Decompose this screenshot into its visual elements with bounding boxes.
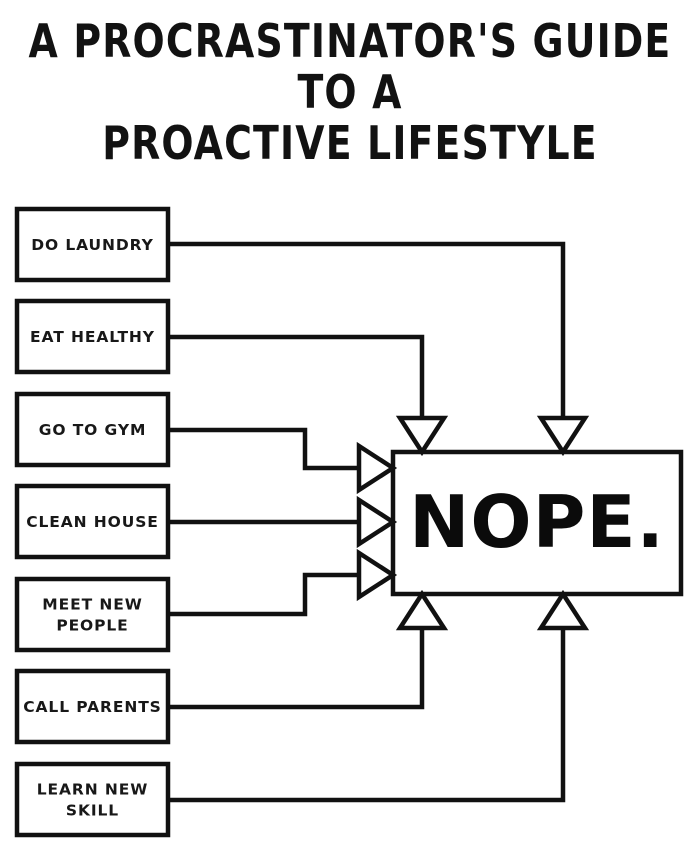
arrowhead-up: [400, 594, 444, 628]
arrowhead-down: [541, 418, 585, 452]
nope-label: NOPE.: [409, 480, 665, 564]
task-box[interactable]: EAT HEALTHY: [17, 301, 168, 372]
nope-node[interactable]: NOPE.: [393, 452, 681, 594]
connector-line: [168, 628, 422, 707]
task-box-label: DO LAUNDRY: [31, 236, 154, 254]
task-box-label: GO TO GYM: [39, 421, 147, 439]
flowchart-diagram: DO LAUNDRYEAT HEALTHYGO TO GYMCLEAN HOUS…: [0, 0, 700, 865]
connector-line: [168, 337, 422, 418]
task-box[interactable]: DO LAUNDRY: [17, 209, 168, 280]
task-box-outline: [17, 764, 168, 835]
meme-canvas: A PROCRASTINATOR'S GUIDE TO A PROACTIVE …: [0, 0, 700, 865]
task-box-outline: [17, 579, 168, 650]
arrowhead-up: [541, 594, 585, 628]
arrowhead-right: [359, 446, 393, 490]
task-box-label: LEARN NEW: [37, 781, 149, 799]
connector-line: [168, 244, 563, 418]
connector-line: [168, 430, 368, 468]
connector-line: [168, 628, 563, 800]
task-box[interactable]: MEET NEWPEOPLE: [17, 579, 168, 650]
arrowhead-down: [400, 418, 444, 452]
task-box-label: SKILL: [66, 802, 119, 820]
task-box-label: CALL PARENTS: [23, 698, 162, 716]
task-box[interactable]: GO TO GYM: [17, 394, 168, 465]
task-box[interactable]: LEARN NEWSKILL: [17, 764, 168, 835]
task-box[interactable]: CALL PARENTS: [17, 671, 168, 742]
connector-line: [168, 575, 368, 614]
task-box-label: MEET NEW: [42, 596, 142, 614]
task-box-label: PEOPLE: [56, 617, 128, 635]
task-box[interactable]: CLEAN HOUSE: [17, 486, 168, 557]
arrowhead-right: [359, 500, 393, 544]
arrowhead-right: [359, 553, 393, 597]
task-box-label: CLEAN HOUSE: [26, 513, 159, 531]
task-box-label: EAT HEALTHY: [30, 328, 155, 346]
task-node-layer: DO LAUNDRYEAT HEALTHYGO TO GYMCLEAN HOUS…: [17, 209, 168, 835]
